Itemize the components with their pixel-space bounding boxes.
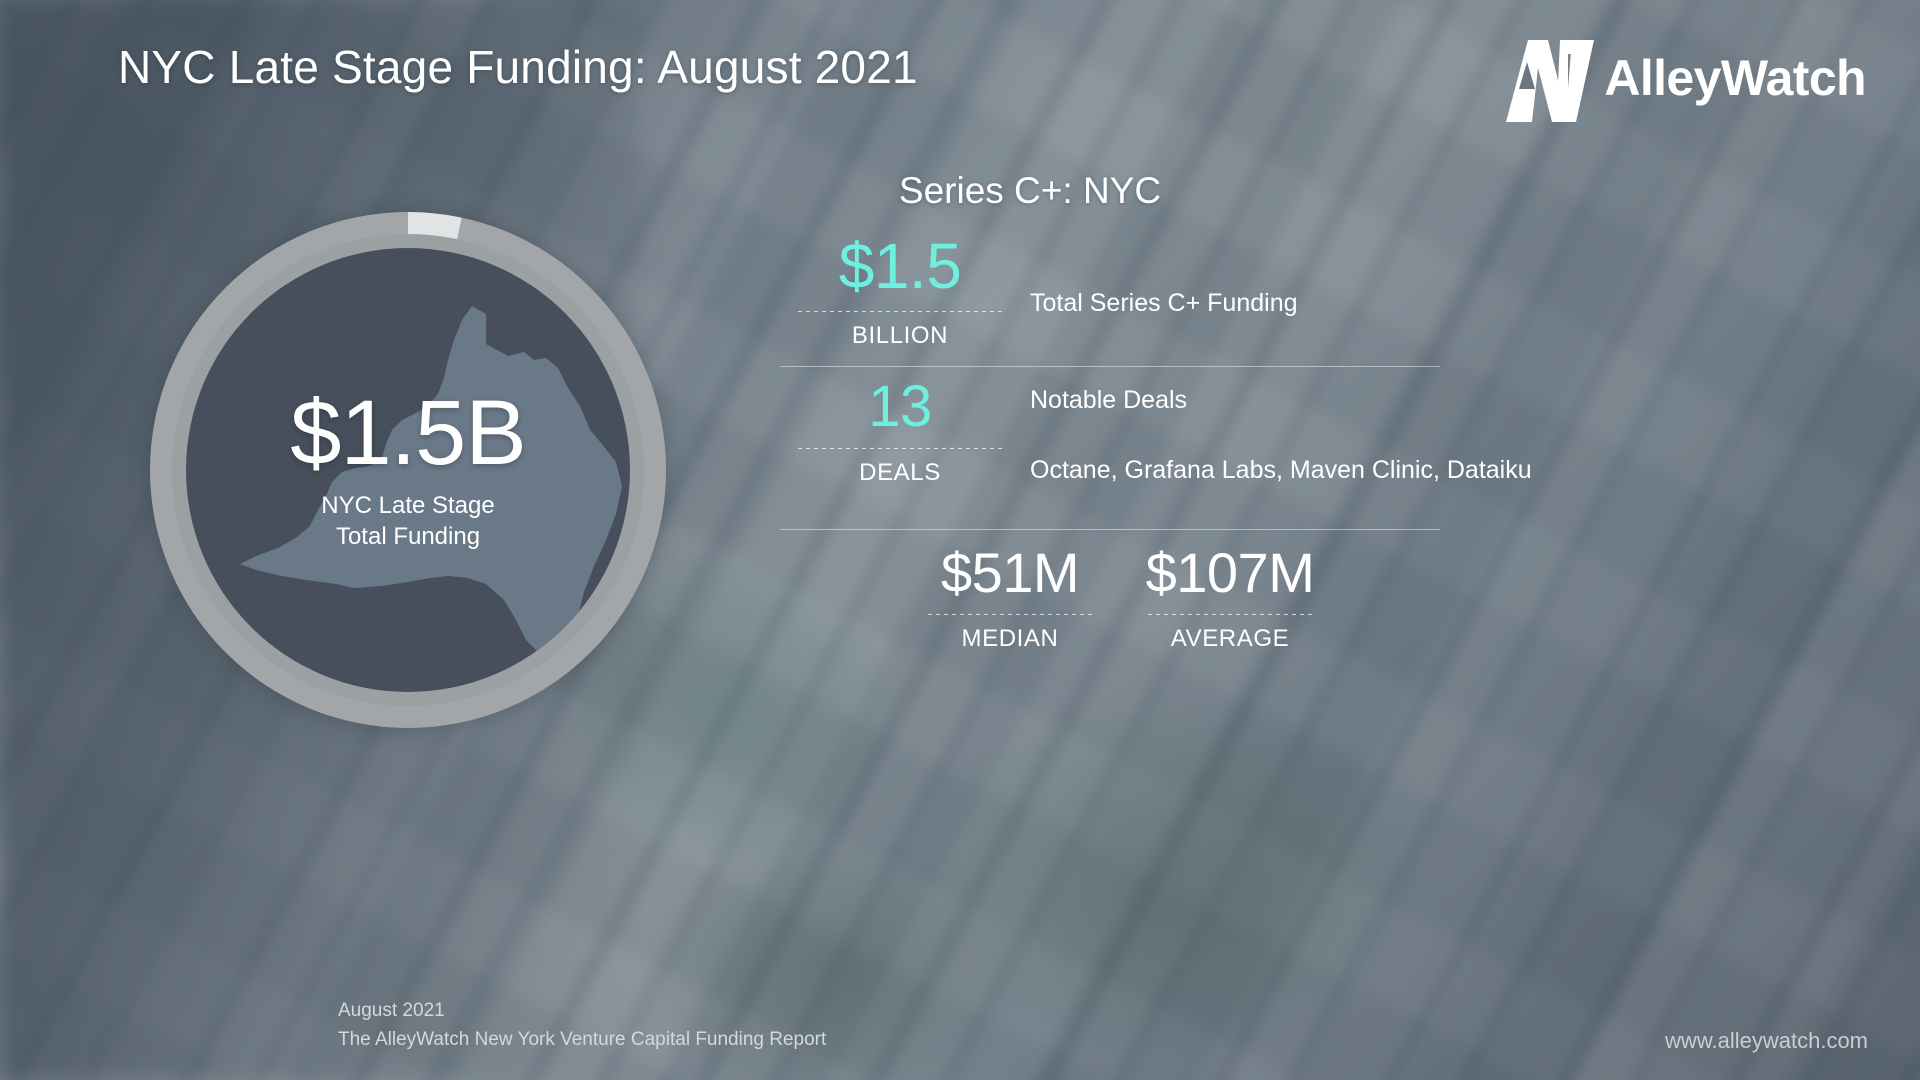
- donut-sublabel-line1: NYC Late Stage: [321, 491, 494, 522]
- notable-deals-list: Octane, Grafana Labs, Maven Clinic, Data…: [1030, 457, 1532, 485]
- metric-value: 13: [770, 377, 1030, 436]
- aw-monogram-icon: [1502, 34, 1598, 122]
- metric-deals: 13 DEALS: [770, 377, 1030, 487]
- metric-divider-dotted: [1148, 614, 1312, 615]
- stat-row-median-average: $51M MEDIAN $107M AVERAGE: [770, 544, 1870, 652]
- logo-wordmark: AlleyWatch: [1604, 53, 1866, 103]
- metric-value: $107M: [1120, 544, 1340, 601]
- metric-caption: DEALS: [770, 459, 1030, 487]
- metric-description-total-funding: Total Series C+ Funding: [1030, 234, 1298, 318]
- metric-description-deals: Notable Deals Octane, Grafana Labs, Mave…: [1030, 377, 1532, 484]
- metric-desc-line: Total Series C+ Funding: [1030, 290, 1298, 318]
- metric-value: $1.5: [770, 234, 1030, 299]
- donut-center: $1.5B NYC Late Stage Total Funding: [186, 248, 630, 692]
- footer-report-name: The AlleyWatch New York Venture Capital …: [338, 1026, 826, 1055]
- metric-value: $51M: [900, 544, 1120, 601]
- donut-sublabel-line2: Total Funding: [321, 522, 494, 553]
- metric-average: $107M AVERAGE: [1120, 544, 1340, 652]
- page-title: NYC Late Stage Funding: August 2021: [118, 40, 918, 94]
- section-divider-2: [780, 529, 1440, 530]
- metric-divider-dotted: [928, 614, 1092, 615]
- donut-value: $1.5B: [290, 387, 525, 479]
- stat-row-total-funding: $1.5 BILLION Total Series C+ Funding: [770, 234, 1870, 350]
- stat-row-deals: 13 DEALS Notable Deals Octane, Grafana L…: [770, 377, 1870, 487]
- alleywatch-logo: AlleyWatch: [1502, 34, 1866, 122]
- metric-total-funding: $1.5 BILLION: [770, 234, 1030, 350]
- donut-sublabel: NYC Late Stage Total Funding: [321, 491, 494, 552]
- metric-median: $51M MEDIAN: [900, 544, 1120, 652]
- footer-source: August 2021 The AlleyWatch New York Vent…: [338, 997, 826, 1054]
- metric-desc-line: Notable Deals: [1030, 387, 1532, 415]
- footer-url[interactable]: www.alleywatch.com: [1665, 1028, 1868, 1054]
- section-divider-1: [780, 366, 1440, 367]
- metric-divider-dotted: [798, 448, 1002, 449]
- stats-panel: Series C+: NYC $1.5 BILLION Total Series…: [770, 170, 1870, 653]
- infographic-page: NYC Late Stage Funding: August 2021 Alle…: [0, 0, 1920, 1080]
- metric-caption: BILLION: [770, 322, 1030, 350]
- panel-heading: Series C+: NYC: [770, 170, 1290, 212]
- metric-caption: MEDIAN: [900, 625, 1120, 653]
- metric-divider-dotted: [798, 311, 1002, 312]
- metric-caption: AVERAGE: [1120, 625, 1340, 653]
- footer-date: August 2021: [338, 997, 826, 1026]
- donut-chart: $1.5B NYC Late Stage Total Funding: [150, 212, 666, 728]
